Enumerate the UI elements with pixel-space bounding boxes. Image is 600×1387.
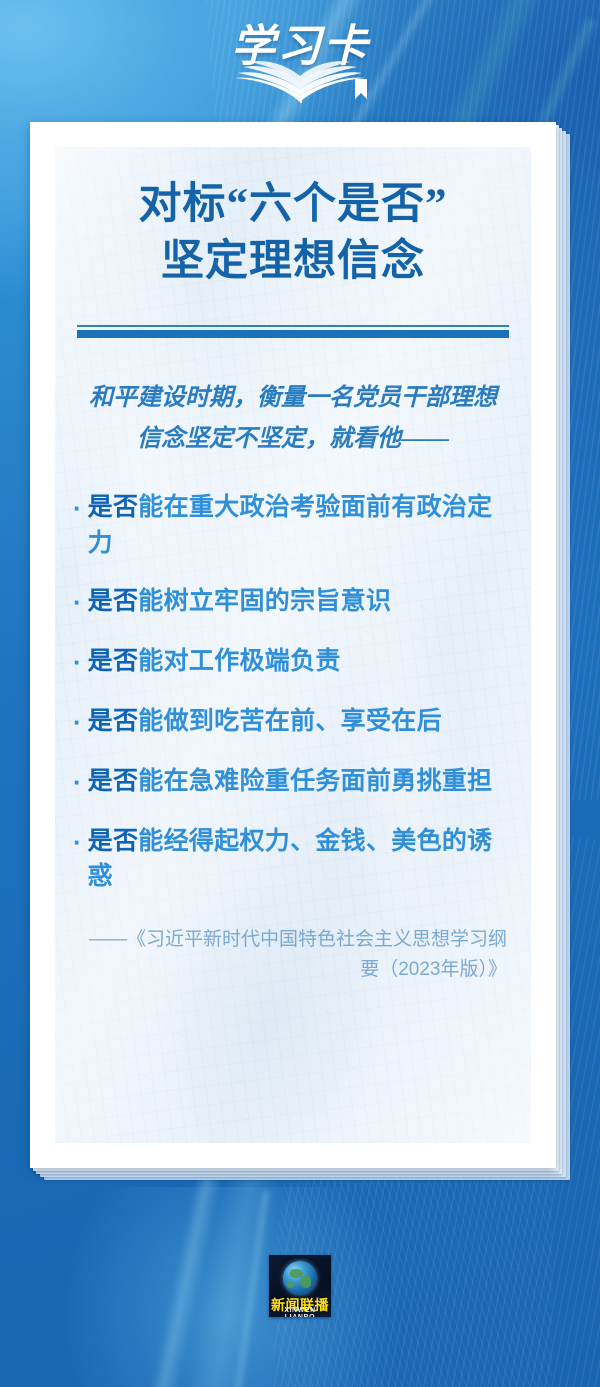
bullet-marker-icon: · (73, 824, 82, 861)
list-item-emphasis: 是否 (88, 647, 139, 675)
list-item: · 是否能在重大政治考验面前有政治定力 (73, 490, 511, 561)
header-banner: 学习卡 (0, 0, 600, 122)
list-item-rest: 能对工作极端负责 (138, 647, 340, 675)
list-item: · 是否能树立牢固的宗旨意识 (73, 584, 511, 621)
bullet-marker-icon: · (73, 584, 82, 621)
title-divider (77, 325, 509, 338)
list-item: · 是否能经得起权力、金钱、美色的诱惑 (73, 824, 511, 895)
list-item-emphasis: 是否 (88, 587, 139, 615)
bullet-list: · 是否能在重大政治考验面前有政治定力 · 是否能树立牢固的宗旨意识 · 是否能… (73, 490, 511, 895)
list-item-text: 是否能在重大政治考验面前有政治定力 (88, 490, 511, 561)
list-item-emphasis: 是否 (88, 767, 139, 795)
list-item-rest: 能在急难险重任务面前勇挑重担 (138, 767, 492, 795)
list-item-text: 是否能经得起权力、金钱、美色的诱惑 (88, 824, 511, 895)
list-item-emphasis: 是否 (88, 707, 139, 735)
study-card: 对标“六个是否” 坚定理想信念 和平建设时期，衡量一名党员干部理想信念坚定不坚定… (30, 122, 556, 1168)
list-item-rest: 能在重大政治考验面前有政治定力 (88, 493, 493, 557)
card-title-block: 对标“六个是否” 坚定理想信念 (69, 147, 517, 291)
list-item-text: 是否能做到吃苦在前、享受在后 (88, 704, 442, 740)
intro-paragraph: 和平建设时期，衡量一名党员干部理想信念坚定不坚定，就看他—— (81, 378, 505, 461)
bullet-marker-icon: · (73, 644, 82, 681)
list-item-emphasis: 是否 (88, 827, 139, 855)
list-item-text: 是否能树立牢固的宗旨意识 (88, 584, 392, 620)
logo-text-en: XINWEN LIANBO (269, 1307, 331, 1317)
card-content: 对标“六个是否” 坚定理想信念 和平建设时期，衡量一名党员干部理想信念坚定不坚定… (69, 147, 517, 986)
list-item: · 是否能对工作极端负责 (73, 644, 511, 681)
source-citation: ——《习近平新时代中国特色社会主义思想学习纲要（2023年版）》 (79, 925, 507, 987)
bullet-marker-icon: · (73, 764, 82, 801)
card-stack: 对标“六个是否” 坚定理想信念 和平建设时期，衡量一名党员干部理想信念坚定不坚定… (30, 122, 570, 1182)
list-item-rest: 能树立牢固的宗旨意识 (138, 587, 391, 615)
open-book-icon (205, 52, 395, 110)
list-item-emphasis: 是否 (88, 493, 139, 521)
globe-icon (283, 1261, 317, 1295)
list-item-text: 是否能对工作极端负责 (88, 644, 341, 680)
list-item: · 是否能在急难险重任务面前勇挑重担 (73, 764, 511, 801)
page-title-line-2: 坚定理想信念 (69, 234, 517, 291)
list-item: · 是否能做到吃苦在前、享受在后 (73, 704, 511, 741)
list-item-text: 是否能在急难险重任务面前勇挑重担 (88, 764, 493, 800)
brand-logo: 学习卡 (185, 8, 415, 116)
divider-thick-rule (77, 330, 509, 338)
list-item-rest: 能做到吃苦在前、享受在后 (138, 707, 442, 735)
list-item-rest: 能经得起权力、金钱、美色的诱惑 (88, 827, 493, 891)
xinwen-lianbo-logo: 新闻联播 XINWEN LIANBO (269, 1255, 331, 1317)
card-paper-surface: 对标“六个是否” 坚定理想信念 和平建设时期，衡量一名党员干部理想信念坚定不坚定… (55, 147, 531, 1143)
bullet-marker-icon: · (73, 704, 82, 741)
page-title-line-1: 对标“六个是否” (69, 177, 517, 234)
footer: 新闻联播 XINWEN LIANBO (0, 1255, 600, 1355)
bullet-marker-icon: · (73, 490, 82, 527)
